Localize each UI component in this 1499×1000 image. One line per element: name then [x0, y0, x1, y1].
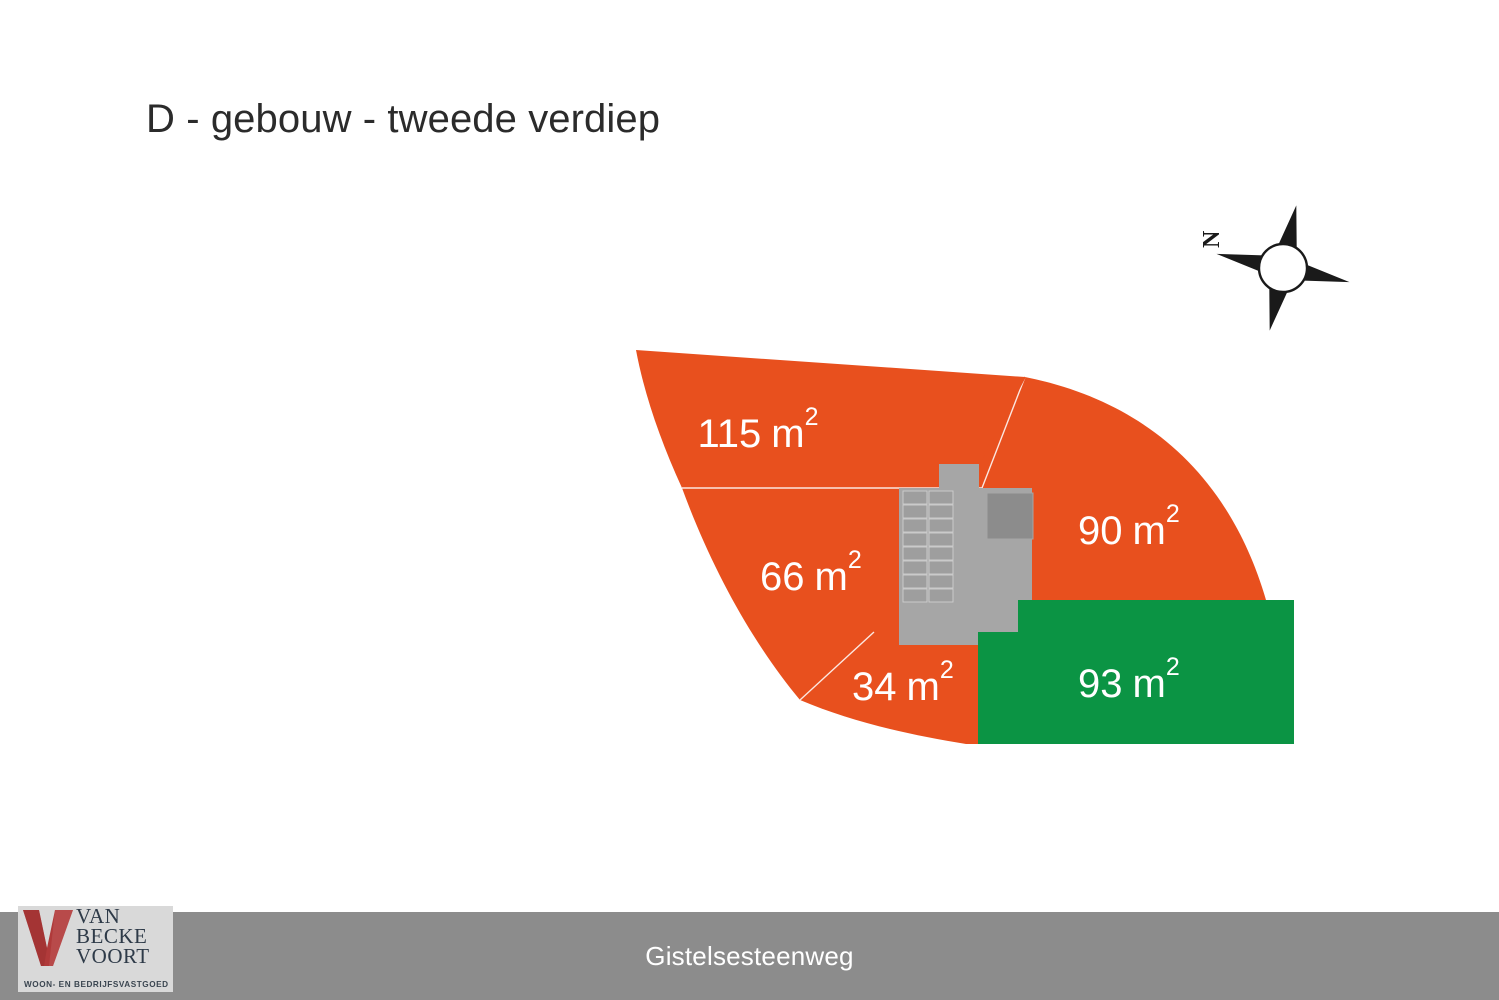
logo-line-1: VAN [76, 906, 172, 926]
logo-w-mark-icon [22, 908, 74, 968]
building-footprint [899, 464, 1033, 645]
elevator-shaft[interactable] [987, 493, 1033, 539]
compass-rose-icon: N [1195, 200, 1360, 340]
compass-center-circle [1259, 244, 1307, 292]
footer-bar: Gistelsesteenweg [0, 912, 1499, 1000]
compass-north-label: N [1199, 230, 1225, 248]
logo-line-2: BECKE [76, 926, 172, 946]
logo-tagline: WOON- EN BEDRIJFSVASTGOED [24, 980, 169, 989]
slide-canvas: D - gebouw - tweede verdiep [0, 0, 1499, 1000]
street-name-label: Gistelsesteenweg [645, 941, 853, 972]
floor-plan-graphic: 115m2 66m2 90m2 34m2 93m2 [0, 0, 1499, 1000]
logo-line-3: VOORT [76, 946, 172, 966]
company-logo[interactable]: VAN BECKE VOORT WOON- EN BEDRIJFSVASTGOE… [18, 906, 173, 992]
